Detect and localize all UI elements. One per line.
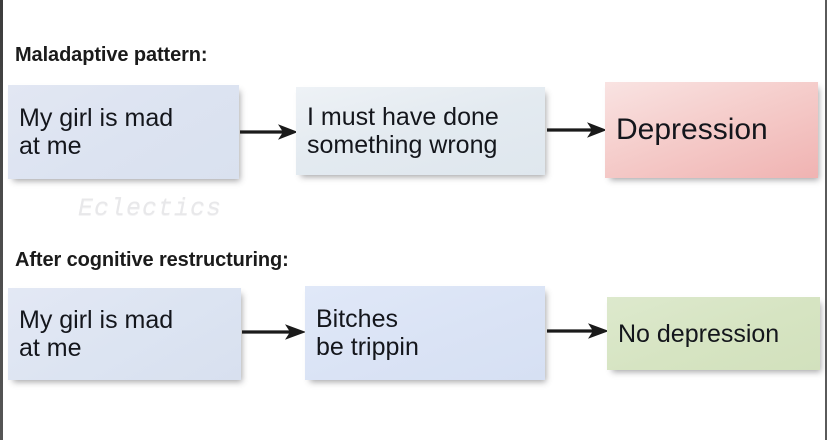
meme-canvas: Maladaptive pattern: My girl is mad at m… <box>0 0 827 440</box>
node-trigger-2-text: My girl is mad at me <box>19 306 173 362</box>
node-trigger-2: My girl is mad at me <box>8 288 241 380</box>
left-edge-border <box>0 0 3 440</box>
node-thought-adaptive: Bitches be trippin <box>305 286 545 380</box>
section-label-restructuring: After cognitive restructuring: <box>15 249 289 272</box>
section-label-maladaptive: Maladaptive pattern: <box>15 44 207 67</box>
arrow-2b <box>547 318 609 344</box>
arrow-1b <box>547 117 607 143</box>
node-thought-maladaptive: I must have done something wrong <box>296 87 545 175</box>
watermark: Eclectics <box>78 194 222 223</box>
node-trigger-1: My girl is mad at me <box>8 85 239 179</box>
node-thought-maladaptive-text: I must have done something wrong <box>307 103 499 159</box>
node-outcome-no-depression-text: No depression <box>618 320 779 348</box>
arrow-1a <box>240 119 298 145</box>
arrow-2a <box>242 319 306 345</box>
node-outcome-no-depression: No depression <box>607 297 820 370</box>
node-thought-adaptive-text: Bitches be trippin <box>316 305 419 361</box>
node-outcome-depression: Depression <box>605 82 818 178</box>
node-outcome-depression-text: Depression <box>616 113 768 147</box>
node-trigger-1-text: My girl is mad at me <box>19 104 173 160</box>
